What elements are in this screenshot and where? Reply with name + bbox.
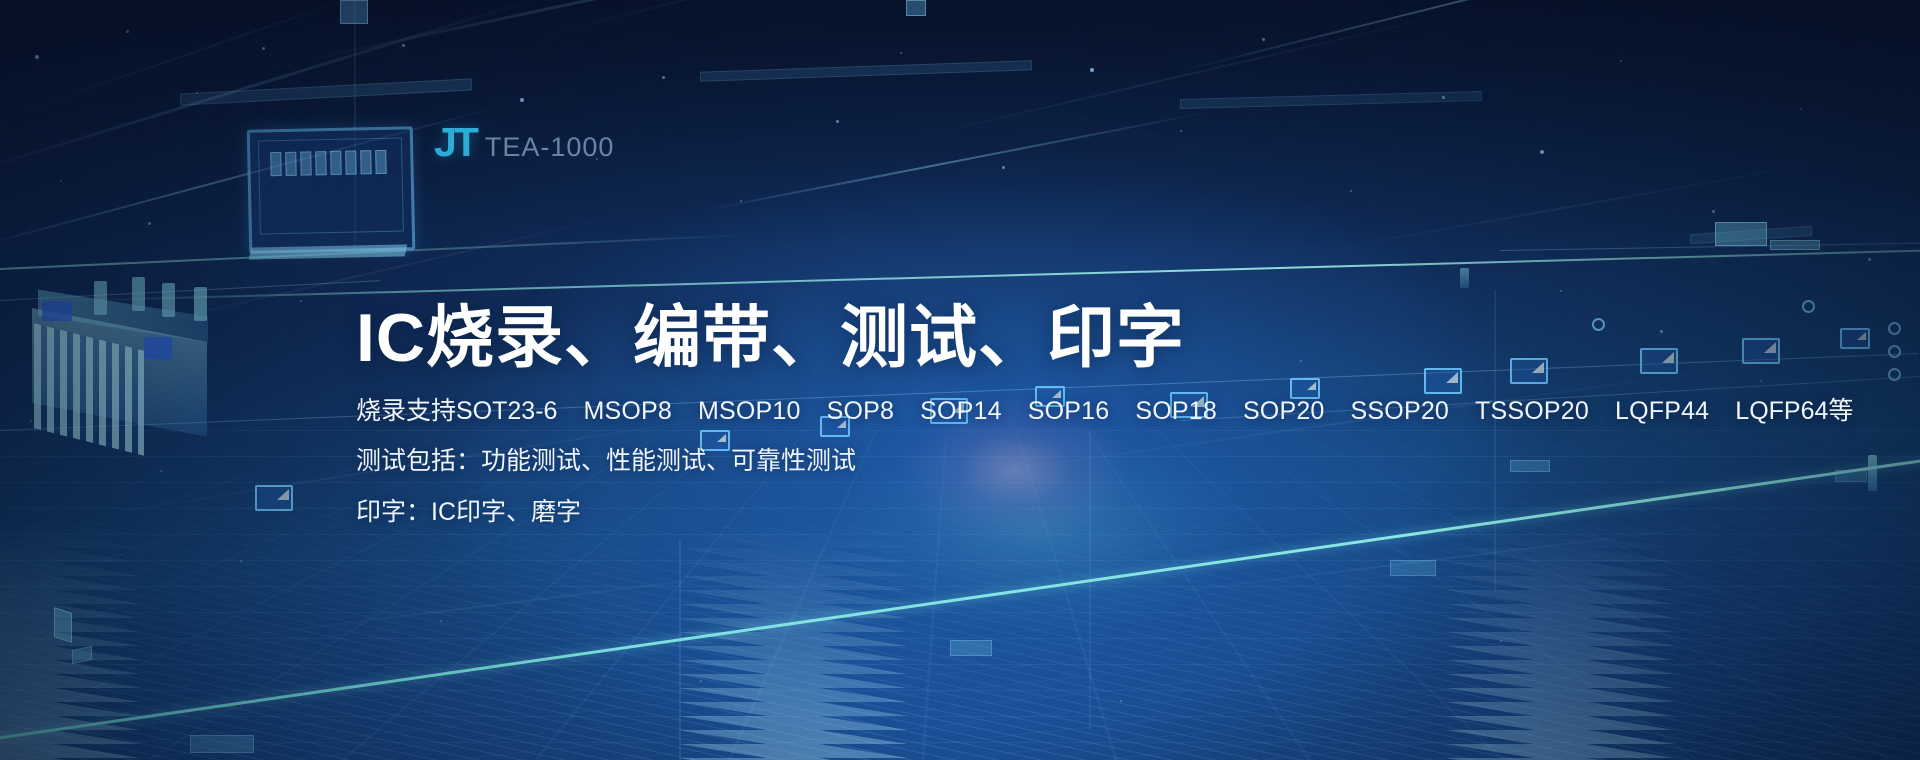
package-item: SOP18 [1135, 398, 1217, 424]
page-title: IC烧录、编带、测试、印字 [356, 300, 1696, 376]
package-item: SSOP20 [1351, 398, 1449, 424]
package-item: SOP20 [1243, 398, 1325, 424]
burn-support-line: 烧录支持SOT23-6 MSOP8 MSOP10 SOP8 SOP14 SOP1… [356, 398, 1696, 424]
service-description-list: 烧录支持SOT23-6 MSOP8 MSOP10 SOP8 SOP14 SOP1… [356, 398, 1696, 525]
package-item: LQFP64等 [1735, 398, 1853, 424]
package-item: LQFP44 [1615, 398, 1709, 424]
marking-service-line: 印字：IC印字、磨字 [356, 499, 1696, 525]
package-row: 烧录支持SOT23-6 MSOP8 MSOP10 SOP8 SOP14 SOP1… [356, 398, 1696, 424]
package-item: SOP14 [920, 398, 1002, 424]
hero-banner: JT TEA-1000 IC烧录、编带、测试、印字 烧录支持SOT23-6 MS… [0, 0, 1920, 760]
package-item: SOP8 [827, 398, 895, 424]
package-item: MSOP10 [698, 398, 801, 424]
burn-support-label: 烧录支持SOT23-6 [356, 398, 557, 424]
test-scope-line: 测试包括：功能测试、性能测试、可靠性测试 [356, 448, 1696, 474]
package-item: TSSOP20 [1475, 398, 1589, 424]
banner-content: IC烧录、编带、测试、印字 烧录支持SOT23-6 MSOP8 MSOP10 S… [356, 300, 1696, 549]
package-item: SOP16 [1028, 398, 1110, 424]
package-item: MSOP8 [583, 398, 672, 424]
